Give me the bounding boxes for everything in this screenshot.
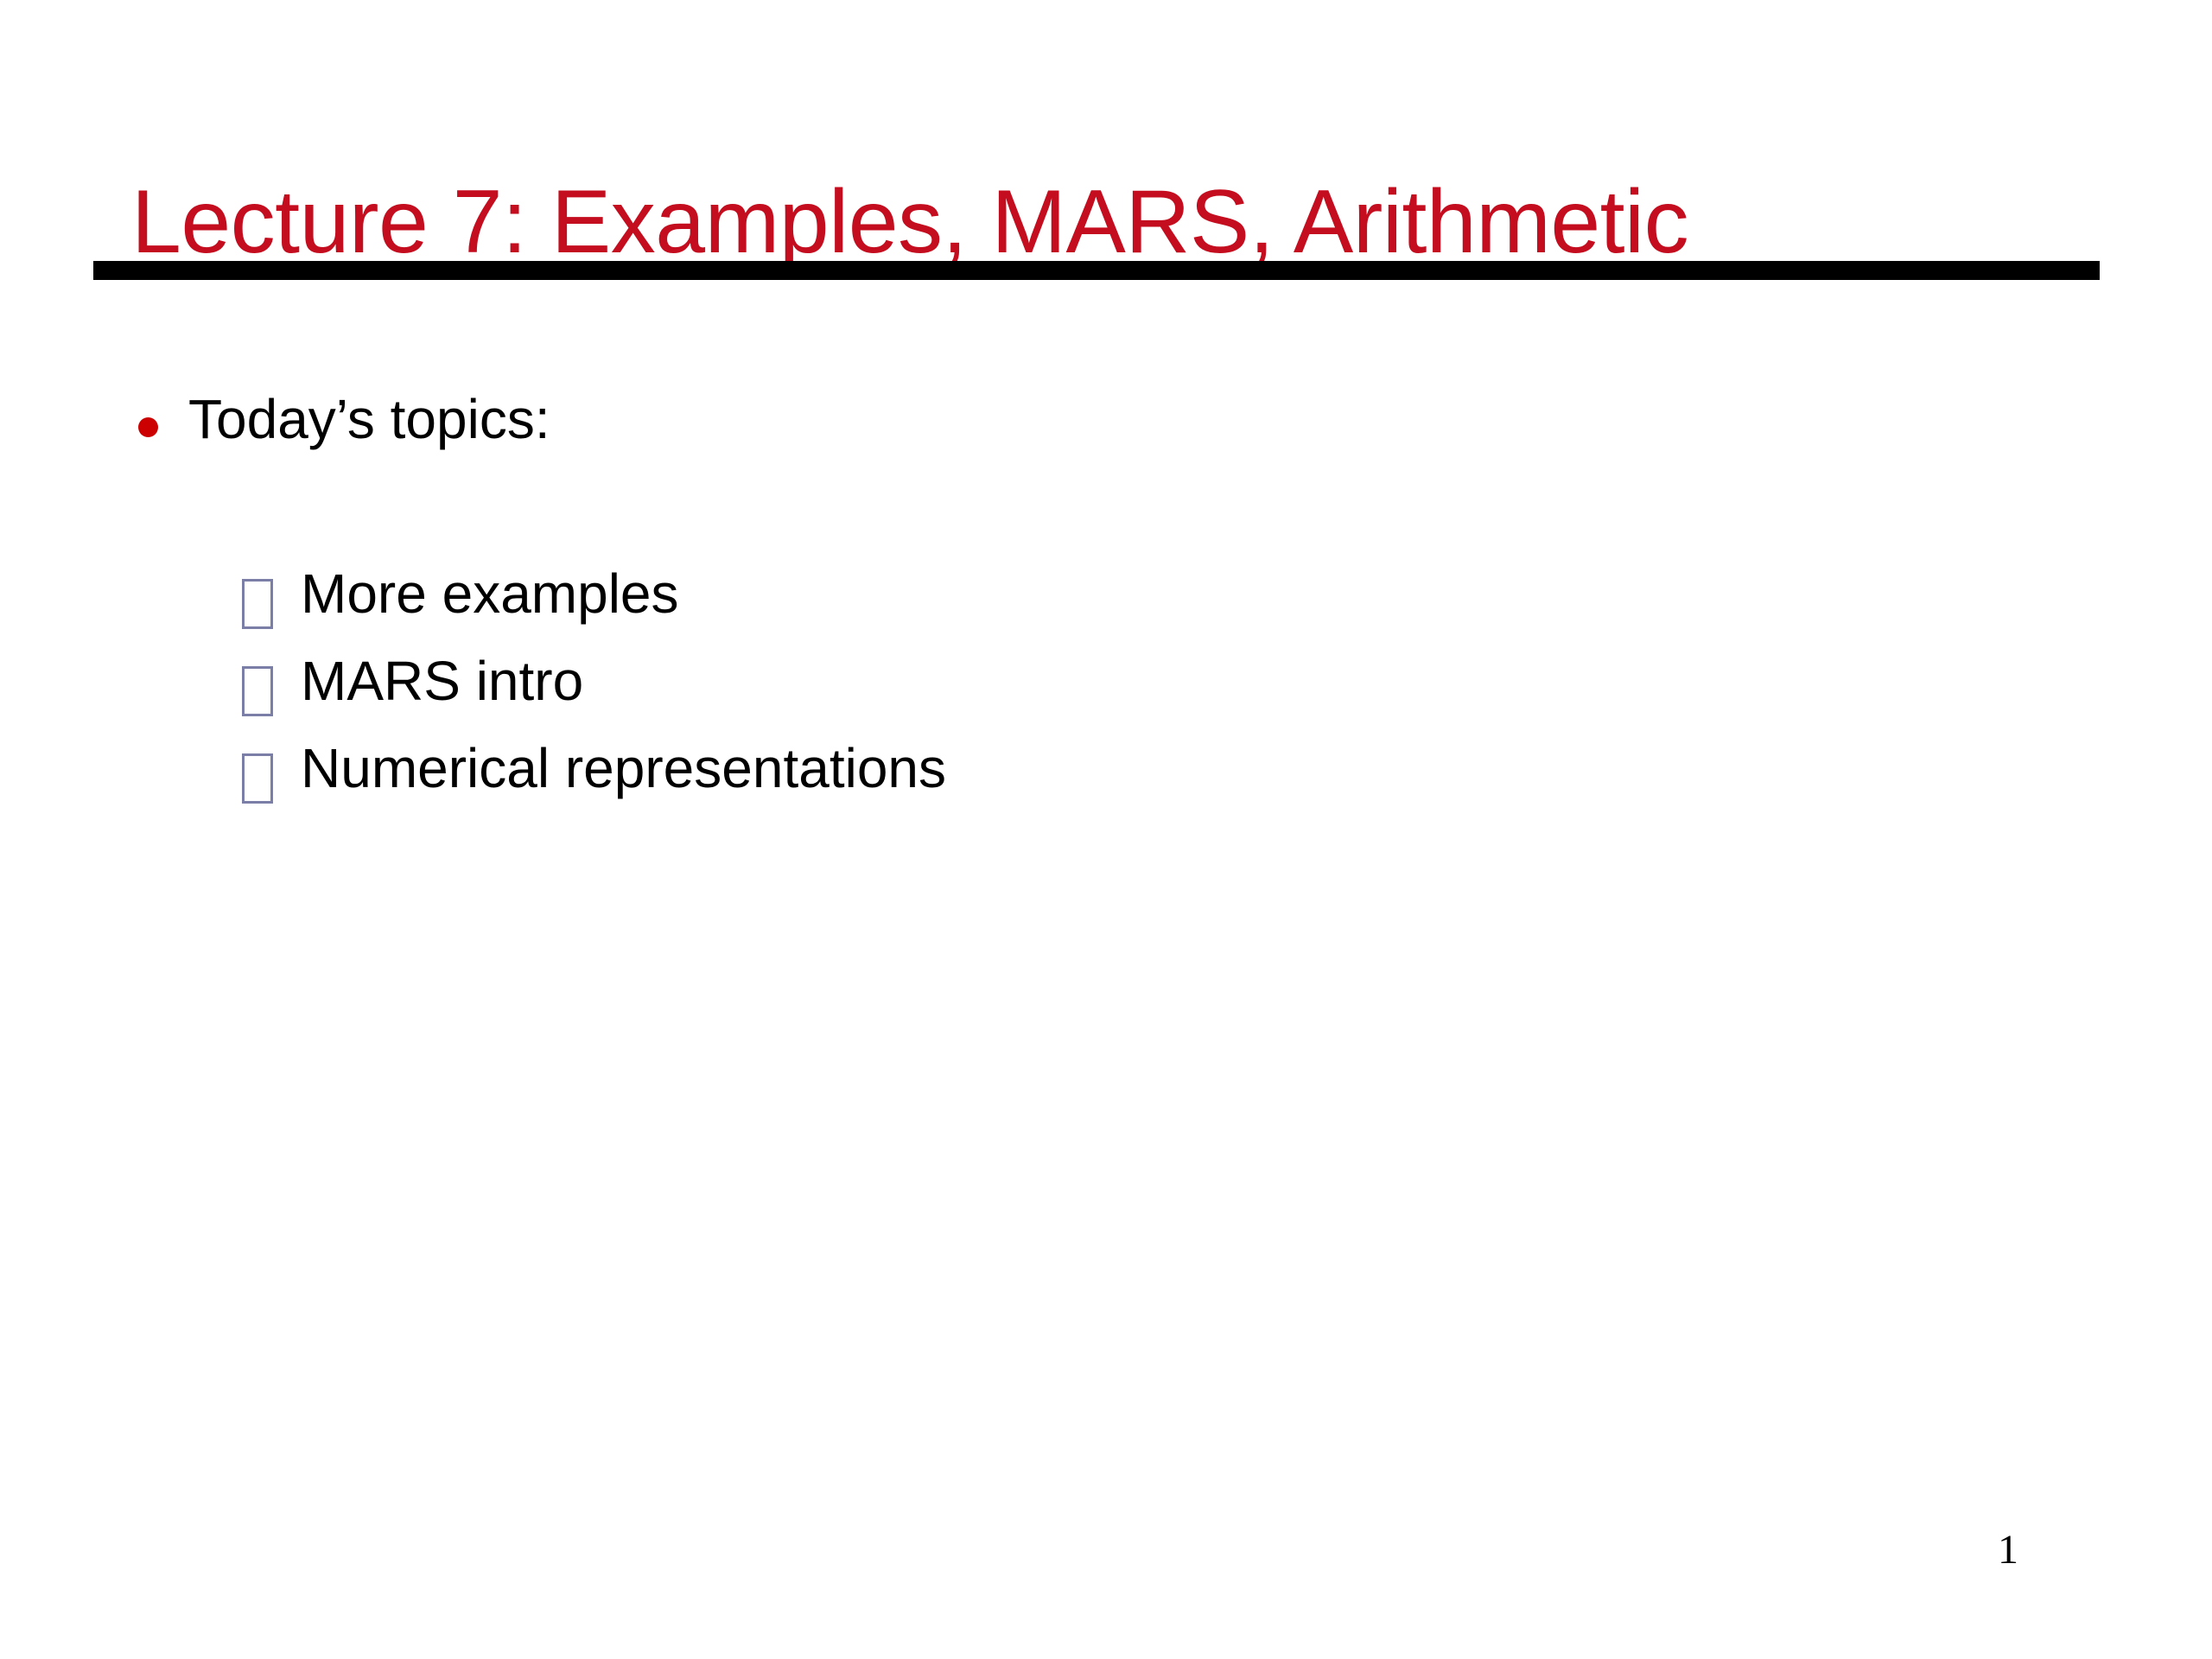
page-number: 1 bbox=[1998, 1526, 2018, 1573]
sub-bullet-item-numerical-representations: Numerical representations bbox=[242, 741, 1970, 828]
bullet-item-todays-topics: Today’s topics: bbox=[138, 389, 550, 451]
round-bullet-icon bbox=[138, 417, 158, 437]
slide-body: Today’s topics: More examples MARS intro… bbox=[0, 0, 2212, 1659]
sub-bullet-item-label: More examples bbox=[301, 566, 679, 621]
sub-bullet-item-more-examples: More examples bbox=[242, 566, 1970, 653]
sub-bullet-list: More examples MARS intro Numerical repre… bbox=[242, 566, 1970, 828]
sub-bullet-item-label: Numerical representations bbox=[301, 741, 946, 796]
sub-bullet-item-label: MARS intro bbox=[301, 653, 583, 709]
box-bullet-icon bbox=[242, 666, 273, 716]
slide-canvas: Lecture 7: Examples, MARS, Arithmetic To… bbox=[0, 0, 2212, 1659]
box-bullet-icon bbox=[242, 579, 273, 629]
box-bullet-icon bbox=[242, 753, 273, 804]
bullet-item-label: Today’s topics: bbox=[188, 389, 550, 451]
sub-bullet-item-mars-intro: MARS intro bbox=[242, 653, 1970, 741]
